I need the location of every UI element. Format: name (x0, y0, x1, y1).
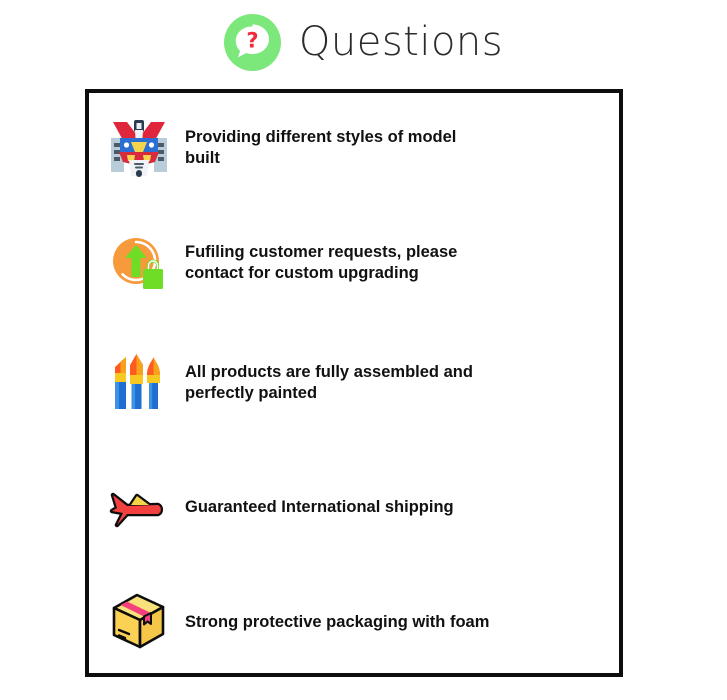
page-title: Questions (299, 22, 503, 62)
list-item: Fufiling customer requests, please conta… (106, 230, 606, 296)
airplane-icon (106, 474, 172, 540)
list-item: All products are fully assembled and per… (106, 350, 606, 416)
list-item: Guaranteed International shipping (106, 474, 606, 540)
list-item-label: Providing different styles of model buil… (185, 127, 495, 168)
page-header: ? Questions (0, 0, 727, 90)
upgrade-arrow-shopping-bag-icon (106, 230, 172, 296)
list-item: Strong protective packaging with foam (106, 589, 606, 655)
faq-list: Providing different styles of model buil… (89, 93, 619, 673)
svg-text:?: ? (246, 28, 258, 52)
list-item-label: Strong protective packaging with foam (185, 612, 489, 633)
package-box-icon (106, 589, 172, 655)
list-item-label: Fufiling customer requests, please conta… (185, 242, 495, 283)
list-item: Providing different styles of model buil… (106, 115, 606, 181)
gundam-robot-head-icon (106, 115, 172, 181)
question-mark-speech-bubble-icon: ? (224, 14, 281, 71)
list-item-label: All products are fully assembled and per… (185, 362, 495, 403)
questions-panel: Providing different styles of model buil… (85, 89, 623, 677)
list-item-label: Guaranteed International shipping (185, 497, 454, 518)
paint-brushes-icon (106, 350, 172, 416)
